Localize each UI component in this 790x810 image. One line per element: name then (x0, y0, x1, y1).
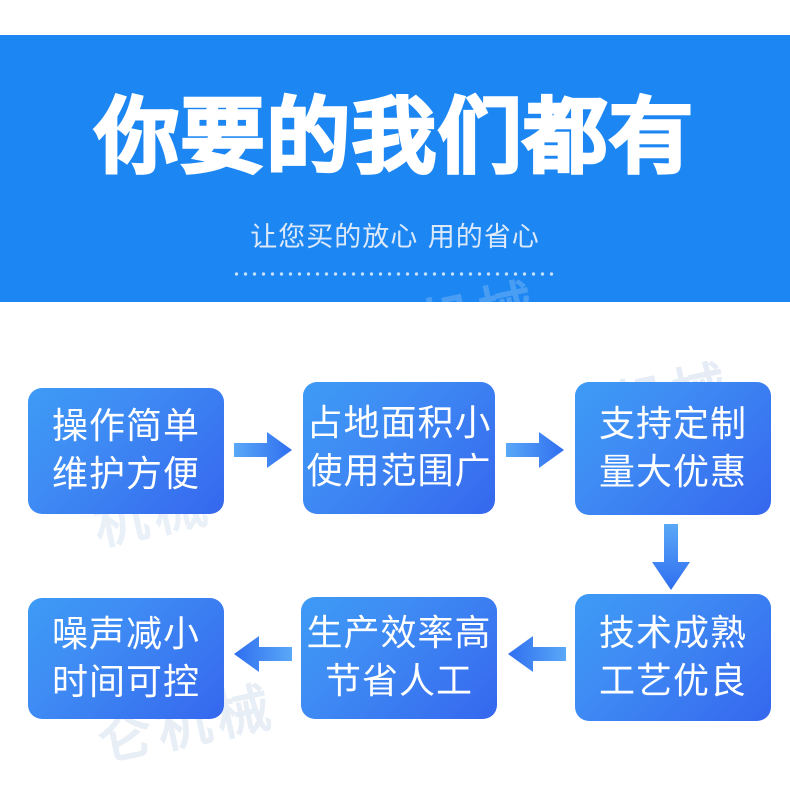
feature-flow-diagram: 机械 机械 仑机械 仑机械 操作简单 维护方便 占地面积小 使用范围广 (0, 0, 790, 810)
arrow-right-icon-2 (506, 430, 564, 470)
feature-box-operation-simple[interactable]: 操作简单 维护方便 (28, 388, 224, 514)
feature-box-high-efficiency[interactable]: 生产效率高 节省人工 (301, 597, 497, 719)
feature-box-line2: 维护方便 (52, 451, 200, 499)
feature-box-line1: 占地面积小 (306, 400, 491, 448)
arrow-left-icon-2 (508, 634, 566, 674)
arrow-down-icon (648, 524, 694, 590)
arrow-right-icon-1 (234, 430, 292, 470)
feature-box-line2: 工艺优良 (599, 658, 747, 706)
feature-box-line1: 支持定制 (599, 401, 747, 449)
arrow-left-icon-1 (234, 634, 292, 674)
feature-box-line2: 节省人工 (325, 658, 473, 706)
feature-box-line1: 生产效率高 (306, 610, 491, 658)
feature-box-line2: 使用范围广 (306, 448, 491, 496)
feature-box-line2: 时间可控 (52, 659, 200, 707)
feature-box-line1: 噪声减小 (52, 611, 200, 659)
feature-box-line1: 技术成熟 (599, 610, 747, 658)
feature-box-mature-technology[interactable]: 技术成熟 工艺优良 (575, 594, 771, 721)
feature-box-custom-support[interactable]: 支持定制 量大优惠 (575, 382, 771, 515)
feature-box-small-footprint[interactable]: 占地面积小 使用范围广 (303, 382, 495, 514)
feature-box-line1: 操作简单 (52, 403, 200, 451)
feature-box-low-noise[interactable]: 噪声减小 时间可控 (28, 598, 224, 719)
feature-box-line2: 量大优惠 (599, 449, 747, 497)
